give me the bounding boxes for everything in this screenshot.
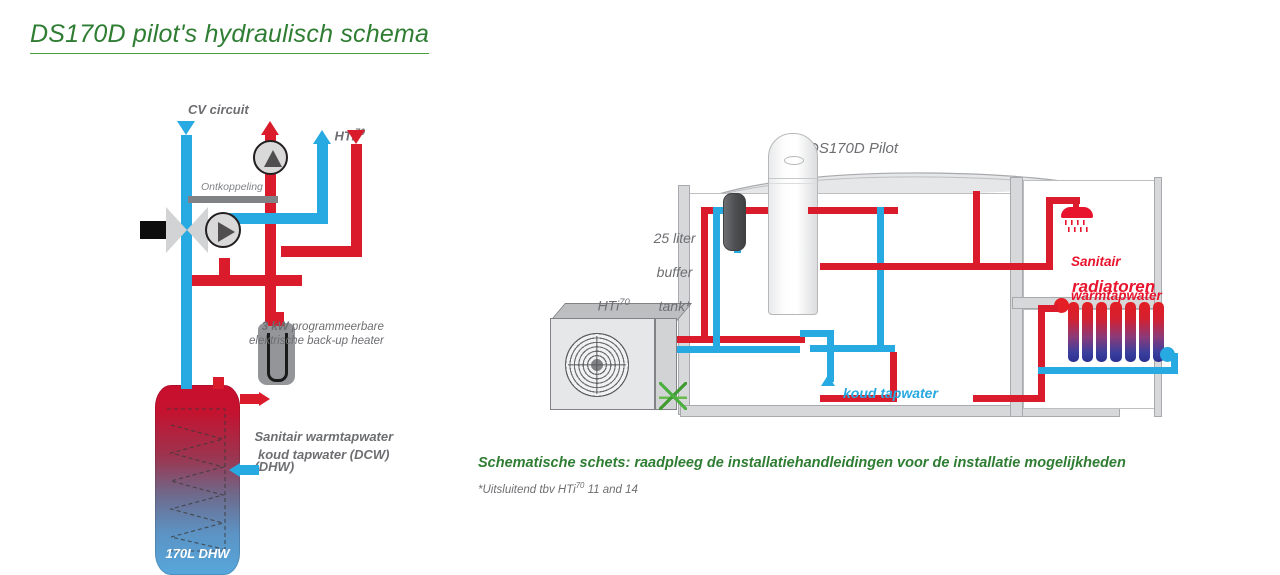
fan-grille-icon xyxy=(565,333,629,397)
radiator-fin xyxy=(1096,302,1107,362)
hti-cold-pipe-v xyxy=(317,144,328,224)
tank-capacity-label: 170L DHW xyxy=(155,546,240,561)
heater-loop-v xyxy=(219,258,230,280)
hti-cold-arrow xyxy=(313,130,331,144)
red-riser-left xyxy=(701,207,708,343)
radiator-feed-v xyxy=(1038,305,1045,401)
circulation-pump-secondary xyxy=(205,212,241,248)
decoupler-bar xyxy=(188,196,278,203)
blue-buffer-loop-left xyxy=(713,207,720,347)
label-cv-circuit: CV circuit xyxy=(188,102,249,117)
cv-supply-pipe xyxy=(181,135,192,405)
radiator-fin xyxy=(1139,302,1150,362)
radiator-fin xyxy=(1068,302,1079,362)
cylinder-seam-2 xyxy=(769,183,817,184)
caption-main: Schematische schets: raadpleeg de instal… xyxy=(478,455,1126,471)
heat-exchanger-coil xyxy=(163,399,232,557)
shower-feed-h xyxy=(973,263,1053,270)
valve-actuator xyxy=(140,221,166,239)
circulation-pump-top xyxy=(253,140,288,175)
hti-hot-pipe-v xyxy=(351,144,362,257)
tank-top-red-stub xyxy=(213,377,224,389)
label-koud-tapwater: koud tapwater xyxy=(843,385,938,401)
cylinder-seam xyxy=(769,178,817,179)
backup-heater-power: 3 kW xyxy=(262,321,289,333)
hti-hot-arrow xyxy=(347,130,365,144)
radiator-return-v xyxy=(1171,353,1178,373)
heater-loop-h xyxy=(192,275,302,286)
label-dcw-inlet: koud tapwater (DCW) xyxy=(258,447,389,462)
cylinder-badge xyxy=(784,156,804,165)
dhw-cylinder xyxy=(768,133,818,315)
radiator-fin xyxy=(1110,302,1121,362)
dhw-outlet-line1: Sanitair warmtapwater xyxy=(254,429,393,444)
radiator-icon xyxy=(1068,302,1164,362)
hti-hot-pipe-h xyxy=(281,246,362,257)
dhw-outlet-arrow xyxy=(259,392,270,406)
hp-cold-pipe-inside xyxy=(690,346,800,353)
heat-pump-text: HTi xyxy=(598,298,620,314)
shower-riser xyxy=(1046,197,1053,267)
radiator-fin xyxy=(1125,302,1136,362)
hydraulic-schematic: CV circuit HTi70 Ontkoppeling xyxy=(0,80,460,530)
label-buffer-tank: 25 liter buffer tank* xyxy=(638,213,696,333)
dcw-inlet-arrow xyxy=(229,463,240,477)
radiator-feed-h xyxy=(973,395,1045,402)
red-riser-far-right xyxy=(973,191,980,270)
blue-return-bottom xyxy=(810,345,895,352)
page-title: DS170D pilot's hydraulisch schema xyxy=(30,20,429,54)
installation-scene: DS170D Pilot HTi70 25 liter buff xyxy=(520,85,1280,455)
radiator-fin xyxy=(1082,302,1093,362)
label-ontkoppeling: Ontkoppeling xyxy=(201,181,263,193)
red-top-manifold-right xyxy=(808,207,898,214)
red-hot-out xyxy=(820,263,980,270)
buffer-tank-line1: 25 liter xyxy=(654,230,696,246)
radiator-return-h xyxy=(1038,367,1178,374)
heat-pump-superscript: 70 xyxy=(619,297,630,308)
three-way-valve xyxy=(166,207,208,253)
blue-riser-right xyxy=(877,207,884,352)
caption-footnote: *Uitsluitend tbv HTi70 11 and 14 xyxy=(478,481,638,496)
cv-return-arrow xyxy=(261,121,279,135)
cv-supply-arrow xyxy=(177,121,195,135)
shower-water-drops-icon xyxy=(1063,220,1091,234)
radiator-knob-link xyxy=(1038,305,1058,312)
dhw-outlet-pipe xyxy=(240,394,259,404)
dhw-label-line1: Sanitair xyxy=(1071,254,1121,269)
buffer-tank-line2: buffer xyxy=(657,264,693,280)
label-ds170d-pilot: DS170D Pilot xyxy=(808,140,898,157)
dhw-tank: 170L DHW xyxy=(155,385,240,575)
footnote-pre: *Uitsluitend tbv HTi xyxy=(478,484,576,496)
buffer-tank-line3: tank* xyxy=(659,298,691,314)
label-heat-pump: HTi70 xyxy=(582,281,630,330)
buffer-tank xyxy=(723,193,746,251)
dcw-inlet-pipe xyxy=(240,465,259,475)
shower-head-icon xyxy=(1061,207,1093,218)
grass-decoration xyxy=(659,382,687,410)
footnote-post: 11 and 14 xyxy=(584,484,638,496)
label-backup-heater: 3 kW programmeerbare elektrische back-up… xyxy=(249,308,384,361)
label-radiatoren: radiatoren xyxy=(1072,277,1155,297)
cold-water-arrow xyxy=(821,375,835,386)
tank-top-blue-stub xyxy=(181,377,192,389)
